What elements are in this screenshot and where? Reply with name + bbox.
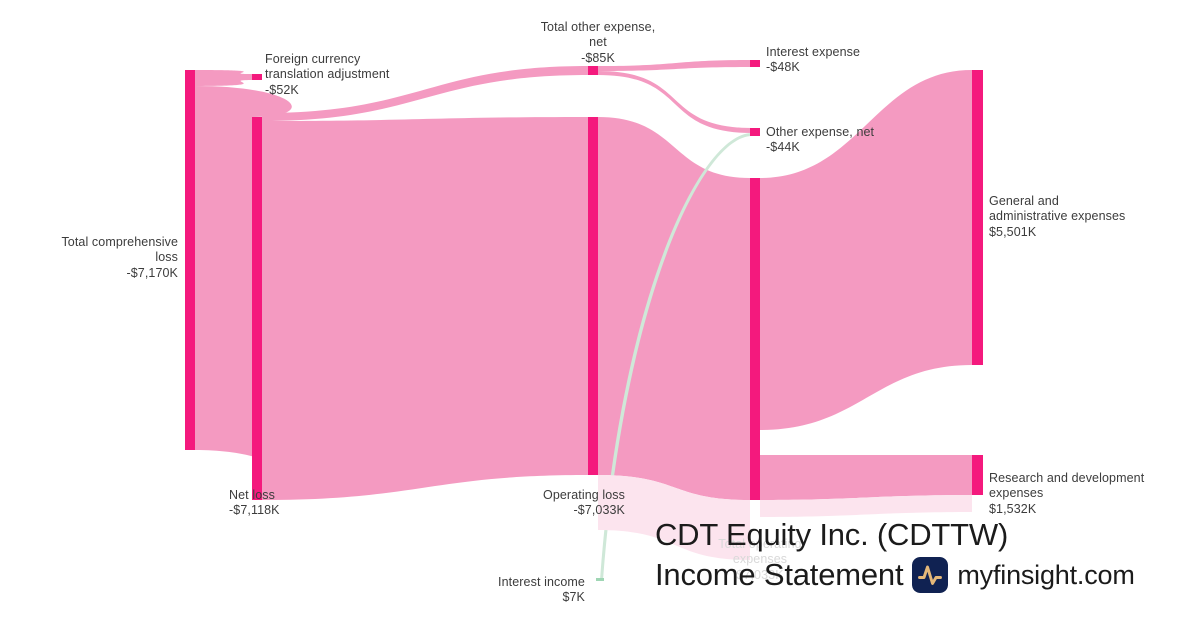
label-net-loss: Net loss -$7,118K — [229, 472, 359, 534]
label-general-admin-value: $5,501K — [989, 225, 1189, 241]
label-research-development-name: Research and development expenses — [989, 471, 1144, 501]
node-general-admin[interactable] — [972, 70, 983, 365]
label-operating-loss-value: -$7,033K — [470, 503, 625, 519]
link-total-comprehensive-loss-to-foreign-currency — [195, 70, 253, 86]
chart-title-row: Income Statement myfinsight.com — [655, 556, 1195, 594]
node-other-expense-net[interactable] — [750, 128, 760, 136]
node-operating-loss[interactable] — [588, 117, 598, 475]
link-net-loss-to-operating-loss — [262, 117, 588, 500]
label-total-other-expense-name: Total other expense, net — [541, 20, 656, 50]
label-interest-expense-value: -$48K — [766, 60, 946, 76]
label-total-other-expense-net: Total other expense, net -$85K — [513, 4, 683, 82]
label-total-other-expense-value: -$85K — [513, 51, 683, 67]
node-research-development[interactable] — [972, 455, 983, 495]
label-total-comprehensive-loss: Total comprehensive loss -$7,170K — [20, 219, 178, 297]
label-total-comprehensive-loss-name: Total comprehensive loss — [61, 235, 178, 265]
label-net-loss-value: -$7,118K — [229, 503, 359, 519]
pulse-waveform-icon — [912, 557, 948, 593]
label-net-loss-name: Net loss — [229, 488, 275, 502]
label-total-comprehensive-loss-value: -$7,170K — [20, 266, 178, 282]
label-general-and-administrative-expenses: General and administrative expenses $5,5… — [989, 178, 1189, 256]
chart-footer: CDT Equity Inc. (CDTTW) Income Statement… — [655, 516, 1195, 616]
node-foreign-currency[interactable] — [252, 74, 262, 80]
brand-name: myfinsight.com — [957, 558, 1134, 592]
label-interest-expense-name: Interest expense — [766, 45, 860, 59]
sankey-chart: Total comprehensive loss -$7,170K Net lo… — [0, 0, 1200, 630]
chart-title-company: CDT Equity Inc. (CDTTW) — [655, 516, 1195, 554]
link-total-operating-expenses-to-research-development — [760, 455, 972, 500]
node-interest-expense[interactable] — [750, 60, 760, 67]
label-foreign-currency-translation-adjustment: Foreign currency translation adjustment … — [265, 36, 445, 114]
link-operating-loss-to-total-operating-expenses — [598, 117, 750, 500]
label-foreign-currency-value: -$52K — [265, 83, 445, 99]
label-operating-loss-name: Operating loss — [543, 488, 625, 502]
label-operating-loss: Operating loss -$7,033K — [470, 472, 625, 534]
node-total-operating-expenses[interactable] — [750, 178, 760, 500]
node-net-loss[interactable] — [252, 117, 262, 500]
label-research-development-value: $1,532K — [989, 502, 1194, 518]
label-interest-income: Interest income $7K — [430, 559, 585, 621]
node-interest-income[interactable] — [596, 578, 604, 581]
label-interest-income-value: $7K — [430, 590, 585, 606]
label-other-expense-net: Other expense, net -$44K — [766, 109, 946, 171]
label-general-admin-name: General and administrative expenses — [989, 194, 1125, 224]
label-foreign-currency-name: Foreign currency translation adjustment — [265, 52, 390, 82]
label-other-expense-net-value: -$44K — [766, 140, 946, 156]
label-interest-expense: Interest expense -$48K — [766, 29, 946, 91]
label-interest-income-name: Interest income — [498, 575, 585, 589]
label-other-expense-net-name: Other expense, net — [766, 125, 874, 139]
node-total-comprehensive-loss[interactable] — [185, 70, 195, 450]
chart-title-statement: Income Statement — [655, 556, 903, 594]
